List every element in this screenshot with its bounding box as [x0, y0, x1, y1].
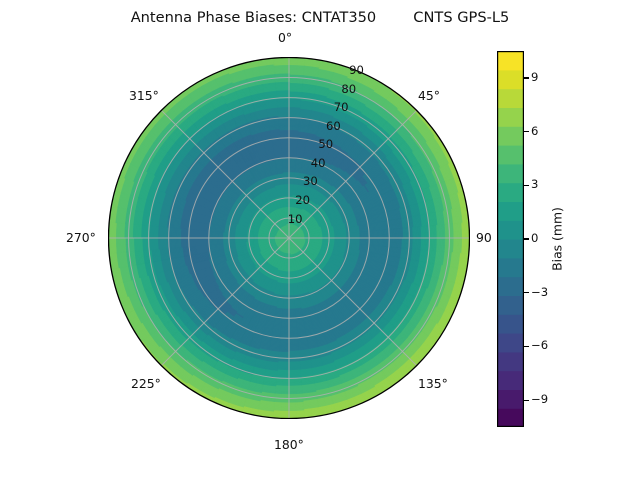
colorbar-tick-1: [524, 131, 529, 132]
colorbar-tick-6: [524, 400, 529, 401]
theta-tick-135: 135°: [418, 376, 448, 391]
r-tick-50: 50: [318, 137, 333, 151]
colorbar-tick-2: [524, 185, 529, 186]
theta-tick-180: 180°: [274, 437, 304, 452]
colorbar-tick-label-3: 0: [531, 231, 538, 245]
matplotlib-figure: Antenna Phase Biases: CNTAT350 CNTS GPS-…: [0, 0, 640, 480]
theta-tick-225: 225°: [131, 376, 161, 391]
colorbar-tick-0: [524, 77, 529, 78]
theta-tick-45: 45°: [418, 88, 440, 103]
r-tick-40: 40: [311, 156, 326, 170]
theta-tick-90: 90: [476, 230, 492, 245]
theta-tick-270: 270°: [66, 230, 96, 245]
theta-tick-315: 315°: [129, 88, 159, 103]
r-tick-70: 70: [334, 100, 349, 114]
r-tick-10: 10: [288, 212, 303, 226]
r-tick-80: 80: [341, 82, 356, 96]
r-tick-20: 20: [295, 193, 310, 207]
polar-axes: 102030405060708090: [108, 57, 470, 419]
colorbar-axis-label: Bias (mm): [550, 207, 565, 271]
colorbar-gradient: [497, 51, 524, 427]
colorbar-tick-label-2: 3: [531, 177, 538, 191]
theta-tick-0: 0°: [278, 30, 292, 45]
colorbar-tick-4: [524, 292, 529, 293]
colorbar-tick-label-5: −6: [531, 338, 548, 352]
r-tick-30: 30: [303, 174, 318, 188]
colorbar-tick-label-0: 9: [531, 70, 538, 84]
colorbar-tick-5: [524, 346, 529, 347]
colorbar-tick-label-6: −9: [531, 392, 548, 406]
colorbar: [497, 51, 524, 427]
polar-plot-canvas: [108, 57, 470, 419]
r-tick-60: 60: [326, 119, 341, 133]
page-title: Antenna Phase Biases: CNTAT350 CNTS GPS-…: [0, 9, 640, 26]
colorbar-tick-label-4: −3: [531, 285, 548, 299]
r-tick-90: 90: [349, 63, 364, 77]
colorbar-tick-3: [524, 238, 529, 239]
polar-gridlines: [109, 58, 470, 419]
colorbar-tick-label-1: 6: [531, 124, 538, 138]
